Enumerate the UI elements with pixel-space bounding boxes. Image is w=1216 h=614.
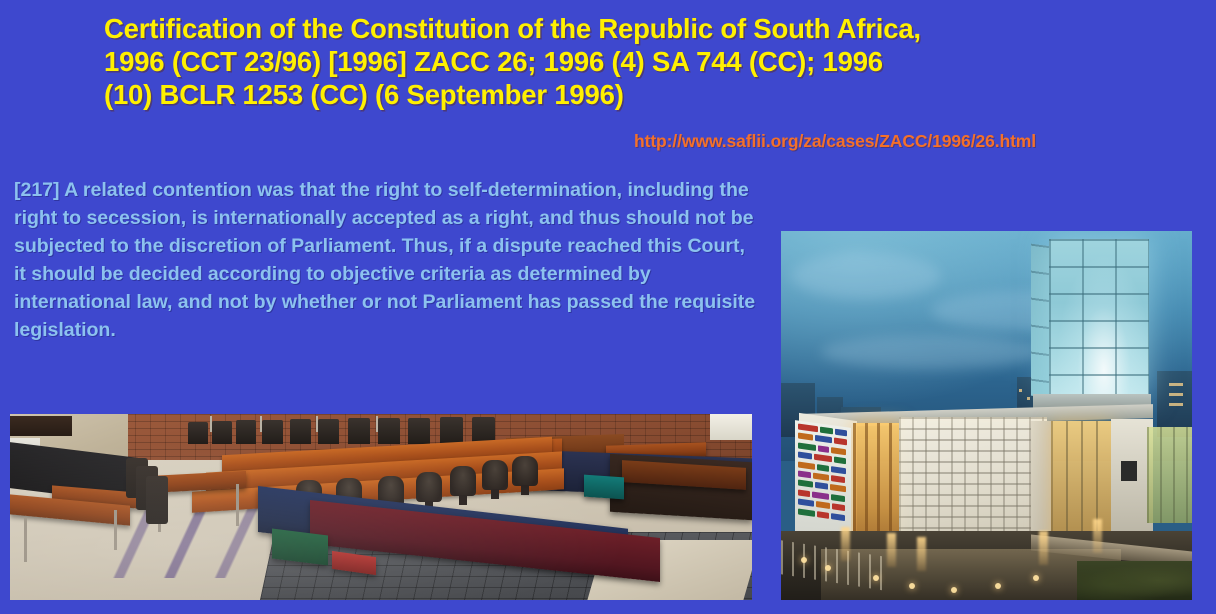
foreground-shrubs [1077, 561, 1192, 600]
cloud [821, 335, 1041, 369]
distant-window-light [1019, 389, 1022, 392]
courtroom-chair [440, 417, 463, 444]
distant-window-light [1169, 383, 1183, 386]
courtroom-wall-shadow [10, 416, 72, 436]
uplight [841, 527, 850, 561]
title-line-2: 1996 (CCT 23/96) [1996] ZACC 26; 1996 (4… [104, 45, 1104, 78]
uplight [1039, 531, 1048, 565]
title-line-1: Certification of the Constitution of the… [104, 12, 1104, 45]
courtroom-chair-post [260, 416, 262, 432]
courtroom-armchair [512, 456, 538, 486]
courtroom-stacked-chairs [146, 476, 168, 524]
page-title: Certification of the Constitution of the… [104, 12, 1104, 111]
multilingual-court-sign [795, 420, 851, 540]
courtroom-table-leg [24, 518, 27, 562]
uplight [1093, 519, 1102, 553]
courtroom-chair-post [376, 416, 378, 432]
glass-tower-side [1031, 244, 1051, 399]
building-right-glazing [1147, 427, 1192, 523]
cloud [791, 253, 941, 299]
courtroom-table-leg [114, 510, 117, 550]
ground-light [825, 565, 831, 571]
judgment-paragraph-217: [217] A related contention was that the … [14, 176, 756, 345]
ground-light [995, 583, 1001, 589]
courtroom-chair [318, 419, 339, 444]
courtroom-chair [378, 418, 400, 444]
presentation-slide: Certification of the Constitution of the… [0, 0, 1216, 614]
title-line-3: (10) BCLR 1253 (CC) (6 September 1996) [104, 78, 1104, 111]
courtroom-chair [290, 419, 311, 444]
distant-window-light [1169, 393, 1183, 396]
courtroom-chair-post [210, 416, 212, 432]
courtroom-armchair [482, 460, 508, 490]
ground-light [873, 575, 879, 581]
distant-window-light [1027, 397, 1030, 400]
ground-light [909, 583, 915, 589]
ground-light [801, 557, 807, 563]
courtroom-bench-teal [584, 475, 624, 500]
courtroom-table-leg [236, 484, 239, 526]
courtroom-chair [236, 420, 256, 444]
courtroom-chair [262, 420, 283, 444]
uplight [887, 533, 896, 567]
courtroom-chair [212, 421, 232, 444]
courtroom-chair [348, 418, 370, 444]
courtroom-chair [408, 418, 430, 444]
courtroom-chair-post [316, 416, 318, 432]
courtroom-armchair [450, 466, 476, 496]
courtroom-scene [10, 414, 752, 600]
courtroom-interior-image [10, 414, 752, 600]
distant-window-light [1169, 403, 1183, 406]
courtroom-armchair [416, 472, 442, 502]
courtroom-chair [188, 422, 208, 444]
ground-light [951, 587, 957, 593]
building-dark-window [1121, 461, 1137, 481]
courtroom-clerestory-window [710, 414, 752, 440]
glass-tower [1049, 239, 1149, 399]
court-building-exterior-image [781, 231, 1192, 600]
uplight [917, 537, 926, 571]
ground-light [1033, 575, 1039, 581]
source-url-link[interactable]: http://www.saflii.org/za/cases/ZACC/1996… [634, 131, 1036, 152]
